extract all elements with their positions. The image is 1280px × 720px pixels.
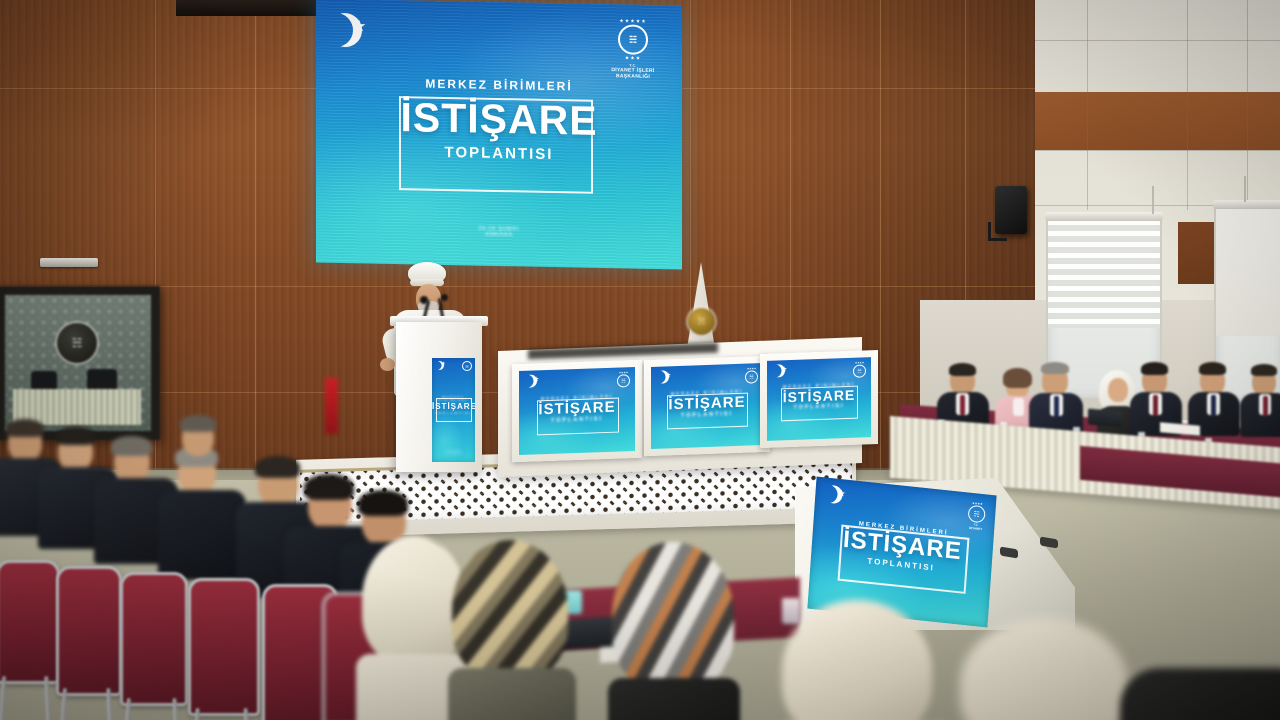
blind-rod-right[interactable] — [1244, 176, 1246, 202]
diyanet-emblem-icon: ☵ — [57, 323, 97, 363]
podium-headline: İSTİŞARE — [432, 402, 475, 411]
podium-flag-icon: ★ — [435, 361, 447, 372]
fg-monitor-logo-icon: ★★★★ ☵ T.C. DİYANET — [967, 501, 986, 532]
front-attendee-6-shoulder — [1120, 668, 1280, 720]
control-booth: ☵ — [0, 286, 160, 440]
monitor-logo-icon: ★★★★ ☵ — [745, 367, 758, 383]
diyanet-logo-icon: ★★★★★ ☵ ★★★ T.C. DİYANET İŞLERİ BAŞKANLI… — [602, 18, 664, 80]
turkish-flag-standee — [325, 378, 338, 434]
headscarf-patterned — [452, 540, 568, 680]
monitor-logo-icon: ★★★★ ☵ — [853, 361, 866, 377]
head-monitor-1: ★ ★★★★ ☵ MERKEZ BİRİMLERİ İSTİŞARE TOPLA… — [512, 360, 642, 463]
screen-headline: İSTİŞARE — [316, 92, 682, 146]
screen-kicker: MERKEZ BİRİMLERİ — [417, 76, 580, 93]
diyanet-seal-icon: ☵ — [688, 308, 715, 335]
headscarf-grey-orange — [612, 542, 734, 690]
conference-photo: ★ ★★★★★ ☵ ★★★ T.C. DİYANET İŞLERİ BAŞKAN… — [0, 0, 1280, 720]
podium-logo-icon: ☵ — [462, 361, 472, 371]
head-monitor-3: ★ ★★★★ ☵ MERKEZ BİRİMLERİ İSTİŞARE TOPLA… — [760, 350, 878, 448]
wall-fixture-plate — [40, 258, 98, 267]
screen-title-block: MERKEZ BİRİMLERİ İSTİŞARE TOPLANTISI — [316, 72, 682, 165]
ceiling-beam — [176, 0, 326, 16]
speaker-hand — [380, 358, 395, 371]
delegate-tie — [1054, 396, 1059, 417]
delegate-tie — [960, 395, 965, 415]
speaker-bracket — [988, 222, 1007, 241]
mic-head — [420, 296, 428, 304]
monitor-flag-icon: ★ — [524, 374, 542, 391]
monitor-flag-icon: ★ — [772, 364, 790, 381]
delegate-tie — [1263, 396, 1268, 416]
monitor-logo-icon: ★★★★ ☵ — [617, 371, 630, 387]
headscarf-cream — [362, 536, 466, 664]
led-presentation-screen: ★ ★★★★★ ☵ ★★★ T.C. DİYANET İŞLERİ BAŞKAN… — [316, 0, 682, 270]
head-monitor-2: ★ ★★★★ ☵ MERKEZ BİRİMLERİ İSTİŞARE TOPLA… — [644, 356, 770, 456]
blind-rod-left[interactable] — [1152, 186, 1154, 214]
podium-date: 15-16 ŞUBAT — [446, 451, 462, 454]
delegate-tie — [1153, 395, 1158, 416]
laptop — [1088, 409, 1122, 428]
water-glass-foreground — [782, 598, 800, 624]
podium-subline: TOPLANTISI — [432, 411, 475, 415]
delegate-tie — [1211, 395, 1216, 416]
mic-head-2 — [441, 294, 448, 301]
monitor-flag-icon: ★ — [656, 370, 674, 387]
turkish-crescent-star-icon: ★ — [328, 13, 374, 54]
fg-monitor-flag-icon: ★ — [824, 484, 852, 509]
podium-screen: ★ ☵ MERKEZ BİRİMLERİ İSTİŞARE TOPLANTISI… — [432, 358, 475, 462]
